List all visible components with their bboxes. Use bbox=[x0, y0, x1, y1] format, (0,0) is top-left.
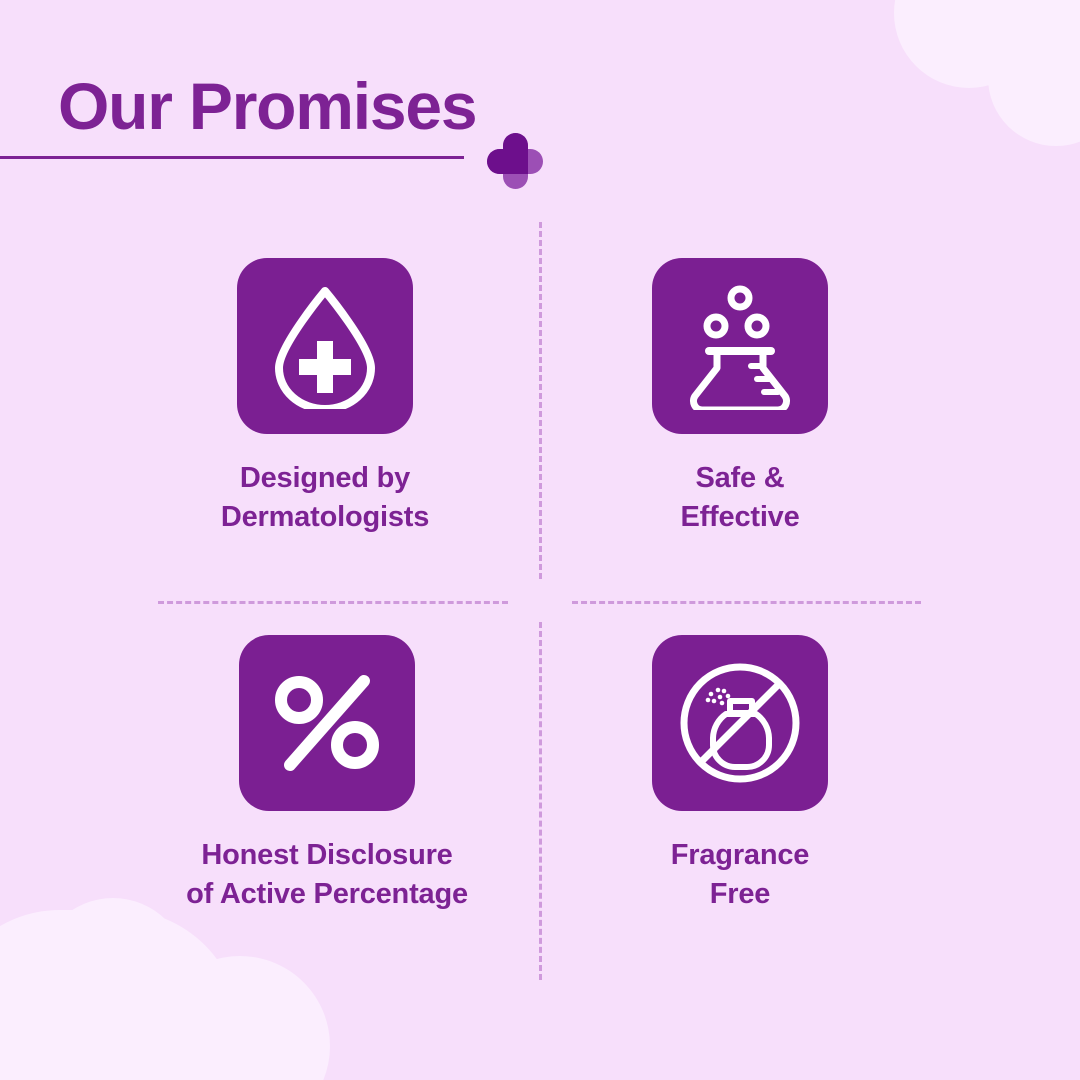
no-fragrance-icon bbox=[674, 657, 806, 789]
promise-item: Safe & Effective bbox=[525, 258, 955, 538]
promise-icon-tile bbox=[237, 258, 413, 434]
promises-grid: Designed by Dermatologists Safe & bbox=[0, 230, 1080, 990]
plus-overlap-vertical bbox=[503, 133, 528, 174]
promise-label: Safe & Effective bbox=[525, 434, 955, 538]
promise-label-line2: Effective bbox=[525, 498, 955, 537]
promise-label-line2: of Active Percentage bbox=[112, 875, 542, 914]
promises-card: Our Promises Designed by Dermatologists bbox=[0, 0, 1080, 1080]
promise-icon-tile bbox=[239, 635, 415, 811]
page-title: Our Promises bbox=[58, 73, 476, 139]
promise-label: Designed by Dermatologists bbox=[110, 434, 540, 538]
lab-flask-icon bbox=[681, 282, 799, 410]
promise-label: Honest Disclosure of Active Percentage bbox=[112, 811, 542, 915]
percent-icon bbox=[272, 673, 382, 773]
promise-label-line1: Honest Disclosure bbox=[201, 839, 452, 871]
promise-icon-tile bbox=[652, 635, 828, 811]
promise-item: Honest Disclosure of Active Percentage bbox=[112, 635, 542, 915]
droplet-plus-icon bbox=[265, 283, 385, 409]
header: Our Promises bbox=[0, 0, 1080, 230]
promise-label-line1: Fragrance bbox=[671, 839, 809, 871]
promise-item: Fragrance Free bbox=[525, 635, 955, 915]
promise-label-line2: Dermatologists bbox=[110, 498, 540, 537]
title-underline bbox=[0, 156, 464, 159]
promise-icon-tile bbox=[652, 258, 828, 434]
promise-label: Fragrance Free bbox=[525, 811, 955, 915]
promise-item: Designed by Dermatologists bbox=[110, 258, 540, 538]
promise-label-line1: Safe & bbox=[695, 462, 784, 494]
decor-cloud-bottom-left bbox=[0, 978, 180, 1080]
promise-label-line1: Designed by bbox=[240, 462, 410, 494]
promise-label-line2: Free bbox=[525, 875, 955, 914]
plus-cross-icon bbox=[487, 133, 543, 189]
